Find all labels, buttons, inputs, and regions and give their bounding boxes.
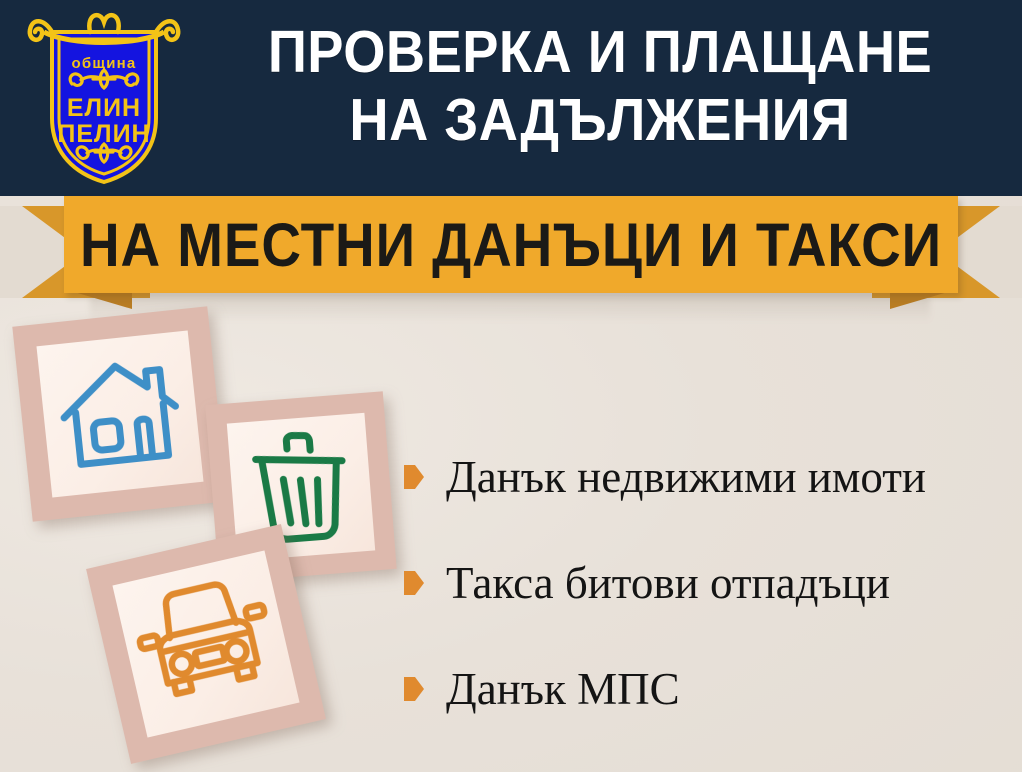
house-icon (50, 344, 191, 485)
list-item[interactable]: Такса битови отпадъци (404, 530, 1014, 636)
coat-of-arms-icon: община ЕЛИН ПЕЛИН (24, 6, 184, 188)
list-item-label: Такса битови отпадъци (446, 558, 890, 608)
municipality-logo: община ЕЛИН ПЕЛИН (24, 6, 184, 188)
list-item[interactable]: Данък недвижими имоти (404, 424, 1014, 530)
logo-line-one: ЕЛИН (67, 94, 141, 122)
ribbon-drop-shadow (90, 296, 930, 322)
arrow-bullet-icon (404, 677, 424, 701)
page-title: ПРОВЕРКА И ПЛАЩАНЕ НА ЗАДЪЛЖЕНИЯ (223, 18, 977, 154)
arrow-bullet-icon (404, 571, 424, 595)
arrow-bullet-icon (404, 465, 424, 489)
list-item[interactable]: Данък МПС (404, 636, 1014, 742)
subtitle-ribbon: НА МЕСТНИ ДАНЪЦИ И ТАКСИ (0, 196, 1022, 306)
stamp-card-property (12, 306, 227, 521)
list-item-label: Данък МПС (446, 664, 680, 714)
tax-types-list: Данък недвижими имоти Такса битови отпад… (404, 424, 1014, 742)
list-item-label: Данък недвижими имоти (446, 452, 926, 502)
poster-canvas: ПРОВЕРКА И ПЛАЩАНЕ НА ЗАДЪЛЖЕНИЯ община (0, 0, 1022, 772)
ribbon-subtitle: НА МЕСТНИ ДАНЪЦИ И ТАКСИ (109, 196, 914, 293)
